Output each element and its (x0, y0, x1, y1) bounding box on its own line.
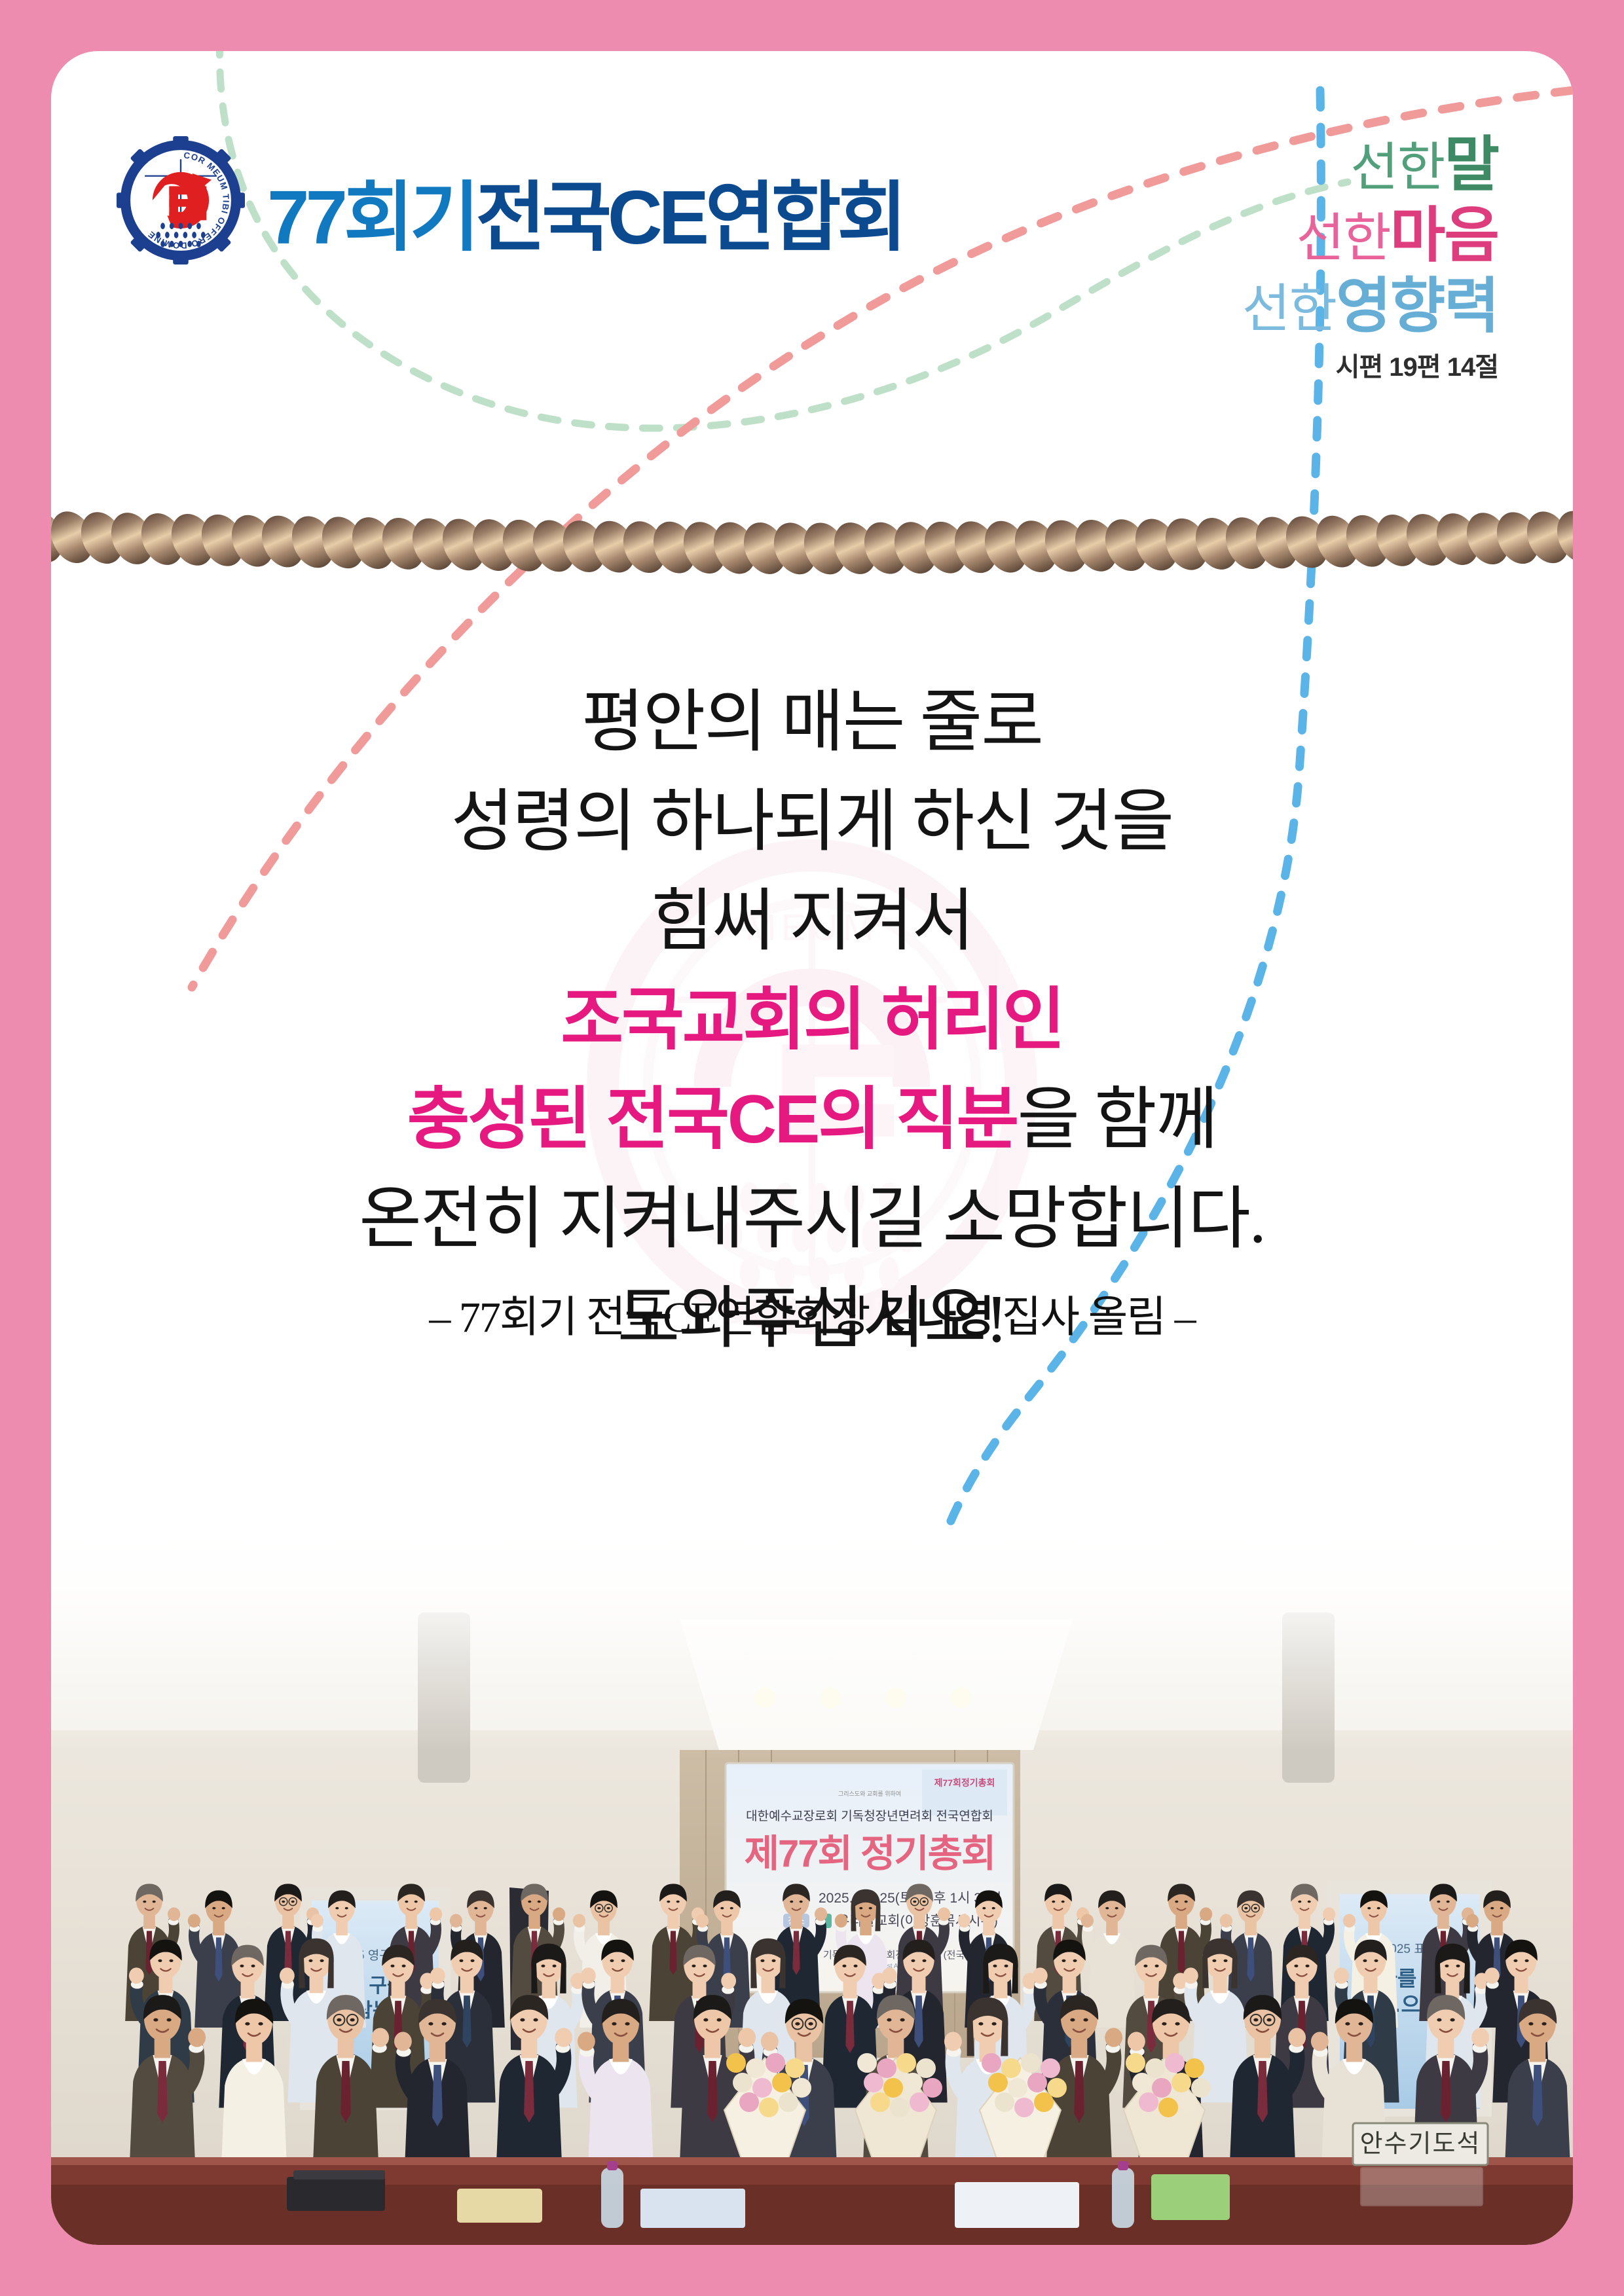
message-line-3: 힘써 지켜서 (51, 872, 1573, 972)
podium-sign-text: 안수기도석 (1360, 2130, 1481, 2158)
svg-text:제77회 정기총회: 제77회 정기총회 (745, 1832, 995, 1875)
slogan-line-1: 선한말 (1242, 135, 1498, 196)
svg-text:그리스도와 교회를 위하여: 그리스도와 교회를 위하여 (838, 1790, 901, 1797)
message-line-5-suffix: 을 함께 (1017, 1082, 1217, 1157)
ce-emblem-logo: COR MEUM TIBI OFFERO DOMINE (117, 136, 245, 264)
signature-name: 김나영 (879, 1292, 992, 1341)
signature-role: 77회기 전국CE연합회장 (459, 1294, 870, 1341)
slogan-line-1-key: 말 (1444, 132, 1498, 198)
brand-title-org: 전국CE연합회 (475, 175, 903, 260)
poster-card: MEUM DOMINE (51, 51, 1573, 2245)
brand-title-sequence: 77회기 (267, 175, 475, 260)
slogan-line-3-key: 영향력 (1336, 273, 1498, 340)
group-photo-illustration: 제77회정기총회 그리스도와 교회를 위하여 대한예수교장로회 기독청장년면려회… (51, 1534, 1573, 2245)
slogan-line-3: 선한영향력 (1242, 276, 1498, 338)
slogan-block: 선한말 선한마음 선한영향력 시편 19편 14절 (1242, 135, 1498, 381)
verse-reference: 시편 19편 14절 (1242, 354, 1498, 381)
slogan-line-2-prefix: 선한 (1297, 209, 1390, 267)
message-line-5: 충성된 전국CE의 직분을 함께 (51, 1070, 1573, 1170)
slogan-line-3-prefix: 선한 (1242, 280, 1336, 338)
signature-line: – 77회기 전국CE연합회장 김나영 집사 올림 – (51, 1282, 1573, 1345)
message-line-1: 평안의 매는 줄로 (51, 673, 1573, 773)
signature-dash-left: – (429, 1294, 449, 1341)
poster-root: MEUM DOMINE (0, 0, 1624, 2296)
brand-title: 77회기전국CE연합회 (267, 156, 903, 266)
rope-divider (51, 503, 1573, 576)
message-body: 평안의 매는 줄로 성령의 하나되게 하신 것을 힘써 지켜서 조국교회의 허리… (51, 673, 1573, 1369)
svg-text:제77회정기총회: 제77회정기총회 (934, 1777, 995, 1788)
group-photo: 제77회정기총회 그리스도와 교회를 위하여 대한예수교장로회 기독청장년면려회… (51, 1534, 1573, 2245)
message-line-5-highlight: 충성된 전국CE의 직분 (407, 1082, 1018, 1157)
signature-dash-right: – (1175, 1294, 1195, 1341)
slogan-line-1-prefix: 선한 (1350, 138, 1444, 196)
message-line-4: 조국교회의 허리인 (51, 971, 1573, 1070)
poster-header: COR MEUM TIBI OFFERO DOMINE (51, 51, 1573, 509)
message-line-6: 온전히 지켜내주시길 소망합니다. (51, 1170, 1573, 1269)
svg-text:대한예수교장로회 기독청장년면려회 전국연합회: 대한예수교장로회 기독청장년면려회 전국연합회 (746, 1809, 993, 1823)
slogan-line-2: 선한마음 (1242, 206, 1498, 267)
slogan-line-2-key: 마음 (1390, 202, 1498, 269)
message-line-2: 성령의 하나되게 하신 것을 (51, 773, 1573, 872)
signature-honorific: 집사 올림 (1002, 1294, 1165, 1341)
